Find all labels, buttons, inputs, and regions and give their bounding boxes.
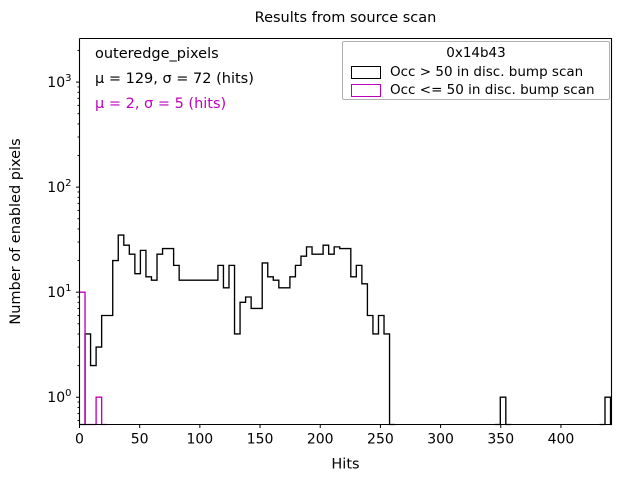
x-tick-label: 400 (548, 432, 575, 448)
y-tick-label: 103 (47, 73, 71, 91)
x-tick-label: 150 (247, 432, 274, 448)
legend-label-occ-gt-50: Occ > 50 in disc. bump scan (390, 64, 583, 80)
figure-canvas: 050100150200250300350400100101102103Hits… (0, 0, 640, 480)
x-tick-label: 200 (307, 432, 334, 448)
x-tick-label: 50 (131, 432, 149, 448)
x-tick-label: 250 (367, 432, 394, 448)
legend: 0x14b43 Occ > 50 in disc. bump scan Occ … (342, 41, 610, 100)
x-axis-title: Hits (331, 457, 359, 473)
x-tick-label: 350 (487, 432, 514, 448)
x-tick-label: 300 (427, 432, 454, 448)
legend-label-occ-le-50: Occ <= 50 in disc. bump scan (390, 82, 595, 98)
figure-title: Results from source scan (255, 10, 437, 26)
legend-title: 0x14b43 (343, 42, 609, 63)
legend-swatch-occ-gt-50 (351, 66, 381, 79)
y-tick-label: 102 (47, 178, 71, 196)
histogram-series-occ-le-50 (80, 292, 108, 424)
annotation-dataset-name: outeredge_pixels (95, 42, 254, 67)
annotation-stats-magenta: μ = 2, σ = 5 (hits) (95, 92, 254, 117)
legend-item-0: Occ > 50 in disc. bump scan (343, 63, 609, 81)
legend-swatch-occ-le-50 (351, 84, 381, 97)
statistics-annotation: outeredge_pixels μ = 129, σ = 72 (hits) … (95, 42, 254, 117)
y-tick-label: 101 (47, 283, 71, 301)
histogram-series-occ-gt-50 (80, 235, 612, 424)
x-tick-label: 100 (186, 432, 213, 448)
y-tick-label: 100 (47, 388, 71, 406)
x-tick-label: 0 (75, 432, 84, 448)
legend-item-1: Occ <= 50 in disc. bump scan (343, 81, 609, 99)
annotation-stats-black: μ = 129, σ = 72 (hits) (95, 67, 254, 92)
y-axis-title: Number of enabled pixels (8, 138, 24, 324)
